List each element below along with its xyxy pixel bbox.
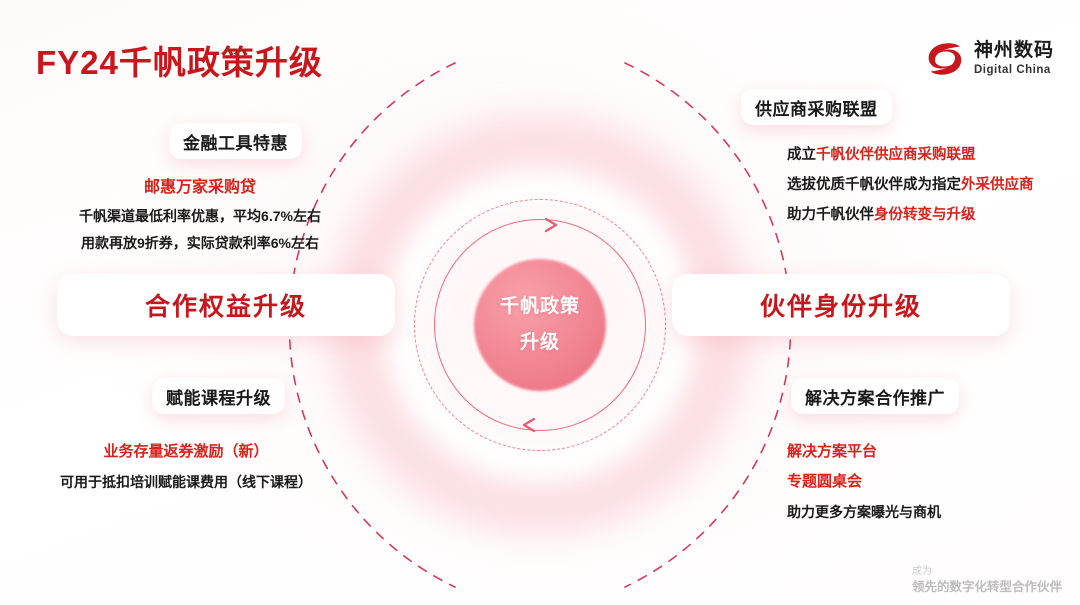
supply-line-3-black: 助力千帆伙伴 xyxy=(787,207,874,223)
pill-cooperation-benefits[interactable]: 合作权益升级 xyxy=(57,274,395,336)
digital-china-swirl-icon xyxy=(925,40,965,78)
supply-line-3: 助力千帆伙伴身份转变与升级 xyxy=(787,200,1034,230)
center-label: 千帆政策 升级 xyxy=(465,289,615,361)
brand-logo: 神州数码 Digital China xyxy=(925,40,1054,78)
watermark-line1: 成为 xyxy=(912,565,1062,579)
supply-line-1-black: 成立 xyxy=(787,147,816,163)
finance-text-block: 邮惠万家采购贷 千帆渠道最低利率优惠，平均6.7%左右 用款再放9折券，实际贷款… xyxy=(40,173,360,257)
chip-solution-promotion[interactable]: 解决方案合作推广 xyxy=(791,378,959,414)
chip-supply-label: 供应商采购联盟 xyxy=(755,95,878,120)
footer-watermark: 成为 领先的数字化转型合作伙伴 xyxy=(912,565,1062,595)
brand-name-en: Digital China xyxy=(974,65,1054,77)
slide-canvas: 千帆政策 升级 FY24千帆政策升级 神州数码 Digital China 合作… xyxy=(0,0,1080,605)
supply-line-1-red: 千帆伙伴供应商采购联盟 xyxy=(816,147,976,163)
solution-highlight-2: 专题圆桌会 xyxy=(787,467,941,497)
finance-detail-1: 千帆渠道最低利率优惠，平均6.7%左右 xyxy=(40,203,360,230)
brand-name-cn: 神州数码 xyxy=(974,41,1054,60)
chip-course-label: 赋能课程升级 xyxy=(166,384,271,409)
supply-line-1: 成立千帆伙伴供应商采购联盟 xyxy=(787,140,1034,170)
chip-course-upgrade[interactable]: 赋能课程升级 xyxy=(152,378,285,414)
finance-detail-2: 用款再放9折券，实际贷款利率6%左右 xyxy=(40,230,360,257)
center-label-line2: 升级 xyxy=(465,325,615,361)
brand-wordmark: 神州数码 Digital China xyxy=(974,41,1054,77)
watermark-line2: 领先的数字化转型合作伙伴 xyxy=(912,579,1062,595)
solution-text-block: 解决方案平台 专题圆桌会 助力更多方案曝光与商机 xyxy=(787,437,941,527)
chip-solution-label: 解决方案合作推广 xyxy=(805,384,945,409)
pill-partner-identity[interactable]: 伙伴身份升级 xyxy=(672,274,1010,336)
solution-highlight-1: 解决方案平台 xyxy=(787,437,941,467)
supply-text-block: 成立千帆伙伴供应商采购联盟 选拔优质千帆伙伴成为指定外采供应商 助力千帆伙伴身份… xyxy=(787,140,1034,230)
pill-right-label: 伙伴身份升级 xyxy=(760,287,922,323)
supply-line-2-red: 外采供应商 xyxy=(961,177,1034,193)
course-text-block: 业务存量返券激励（新） 可用于抵扣培训赋能课费用（线下课程） xyxy=(26,437,346,497)
center-label-line1: 千帆政策 xyxy=(465,289,615,325)
chip-supplier-alliance[interactable]: 供应商采购联盟 xyxy=(741,89,892,125)
supply-line-2: 选拔优质千帆伙伴成为指定外采供应商 xyxy=(787,170,1034,200)
supply-line-3-red: 身份转变与升级 xyxy=(874,207,976,223)
solution-detail-1: 助力更多方案曝光与商机 xyxy=(787,497,941,527)
finance-highlight: 邮惠万家采购贷 xyxy=(40,173,360,203)
page-title: FY24千帆政策升级 xyxy=(36,36,323,84)
pill-left-label: 合作权益升级 xyxy=(145,287,307,323)
supply-line-2-black: 选拔优质千帆伙伴成为指定 xyxy=(787,177,961,193)
chip-finance-label: 金融工具特惠 xyxy=(183,129,288,154)
course-highlight: 业务存量返券激励（新） xyxy=(26,437,346,467)
course-detail-1: 可用于抵扣培训赋能课费用（线下课程） xyxy=(26,467,346,497)
chip-finance-tools[interactable]: 金融工具特惠 xyxy=(169,123,302,159)
